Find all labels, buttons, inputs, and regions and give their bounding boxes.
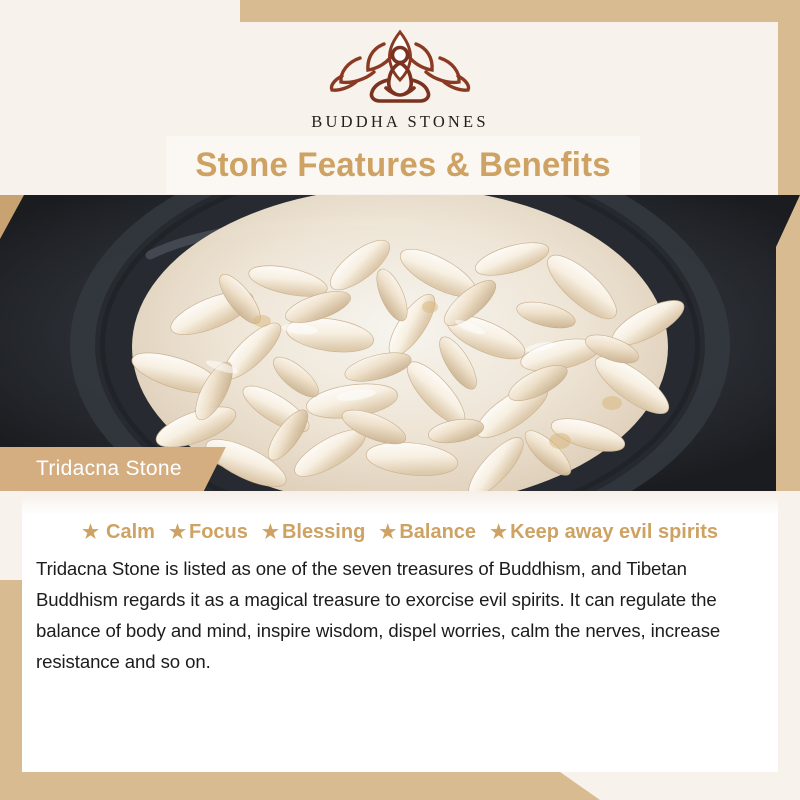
lotus-meditation-figure-icon bbox=[324, 22, 476, 108]
benefit-label: Focus bbox=[189, 521, 248, 544]
frame-bar-bottom bbox=[0, 772, 600, 800]
brand-wordmark: BUDDHA STONES bbox=[311, 112, 488, 132]
star-icon: ★ bbox=[379, 523, 396, 542]
star-icon: ★ bbox=[82, 523, 99, 542]
benefit-label: Keep away evil spirits bbox=[510, 521, 718, 544]
stone-description: Tridacna Stone is listed as one of the s… bbox=[36, 553, 772, 677]
panel-top-fade bbox=[22, 491, 778, 515]
content-panel: ★ Calm ★ Focus ★ Blessing ★ Balance ★ Ke… bbox=[22, 491, 778, 772]
benefit-label: Blessing bbox=[282, 521, 365, 544]
section-title-band: Stone Features & Benefits bbox=[166, 136, 640, 194]
star-icon: ★ bbox=[262, 523, 279, 542]
benefits-list: ★ Calm ★ Focus ★ Blessing ★ Balance ★ Ke… bbox=[22, 521, 778, 544]
hero-image bbox=[0, 195, 800, 491]
stone-name-banner: Tridacna Stone bbox=[0, 447, 226, 491]
photo-accent-right bbox=[776, 195, 800, 491]
star-icon: ★ bbox=[490, 523, 507, 542]
product-info-card: BUDDHA STONES Stone Features & Benefits bbox=[0, 0, 800, 800]
benefit-item: ★ Blessing bbox=[262, 521, 365, 544]
benefit-item: ★ Calm bbox=[82, 521, 155, 544]
star-icon: ★ bbox=[169, 523, 186, 542]
page-title: Stone Features & Benefits bbox=[195, 146, 610, 185]
brand-header: BUDDHA STONES bbox=[0, 0, 800, 148]
frame-bar-left bbox=[0, 580, 22, 800]
benefit-label: Calm bbox=[106, 521, 155, 544]
tridacna-stone-photo bbox=[0, 195, 800, 491]
benefit-label: Balance bbox=[399, 521, 476, 544]
stone-name-label: Tridacna Stone bbox=[36, 457, 182, 481]
benefit-item: ★ Balance bbox=[379, 521, 476, 544]
benefit-item: ★ Keep away evil spirits bbox=[490, 521, 718, 544]
benefit-item: ★ Focus bbox=[169, 521, 248, 544]
